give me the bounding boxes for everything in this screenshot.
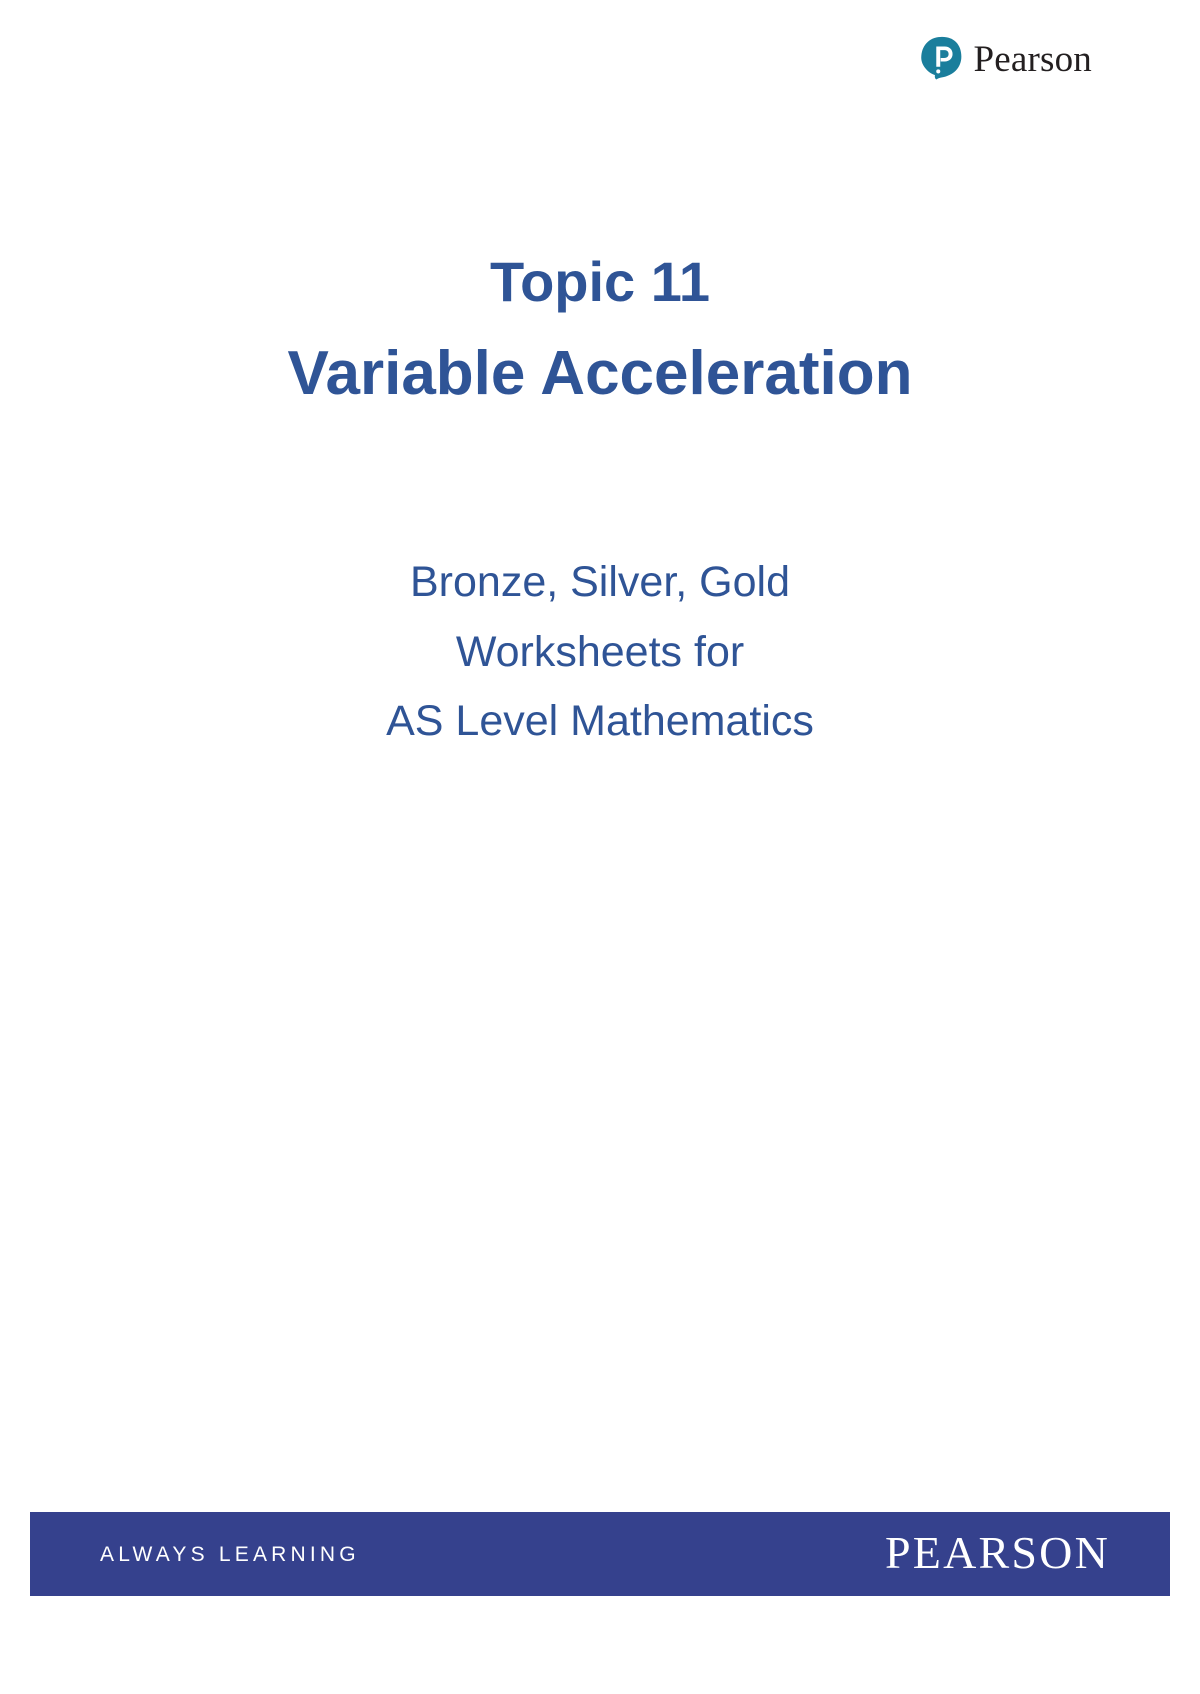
subtitle-line-course: AS Level Mathematics (0, 687, 1200, 757)
page-subtitle: Bronze, Silver, Gold Worksheets for AS L… (0, 548, 1200, 757)
pearson-p-icon (920, 36, 964, 80)
title-topic-name: Variable Acceleration (0, 336, 1200, 412)
pearson-wordmark: Pearson (973, 41, 1092, 78)
pearson-logo: Pearson (920, 36, 1092, 80)
footer-tagline: ALWAYS LEARNING (100, 1544, 360, 1565)
title-topic-number: Topic 11 (0, 248, 1200, 316)
footer-brand-wordmark: PEARSON (885, 1530, 1110, 1576)
subtitle-line-levels: Bronze, Silver, Gold (0, 548, 1200, 618)
page-title: Topic 11 Variable Acceleration (0, 248, 1200, 412)
document-page: Pearson Topic 11 Variable Acceleration B… (0, 0, 1200, 1694)
footer-banner: ALWAYS LEARNING PEARSON (30, 1512, 1170, 1596)
subtitle-line-worksheets: Worksheets for (0, 618, 1200, 688)
